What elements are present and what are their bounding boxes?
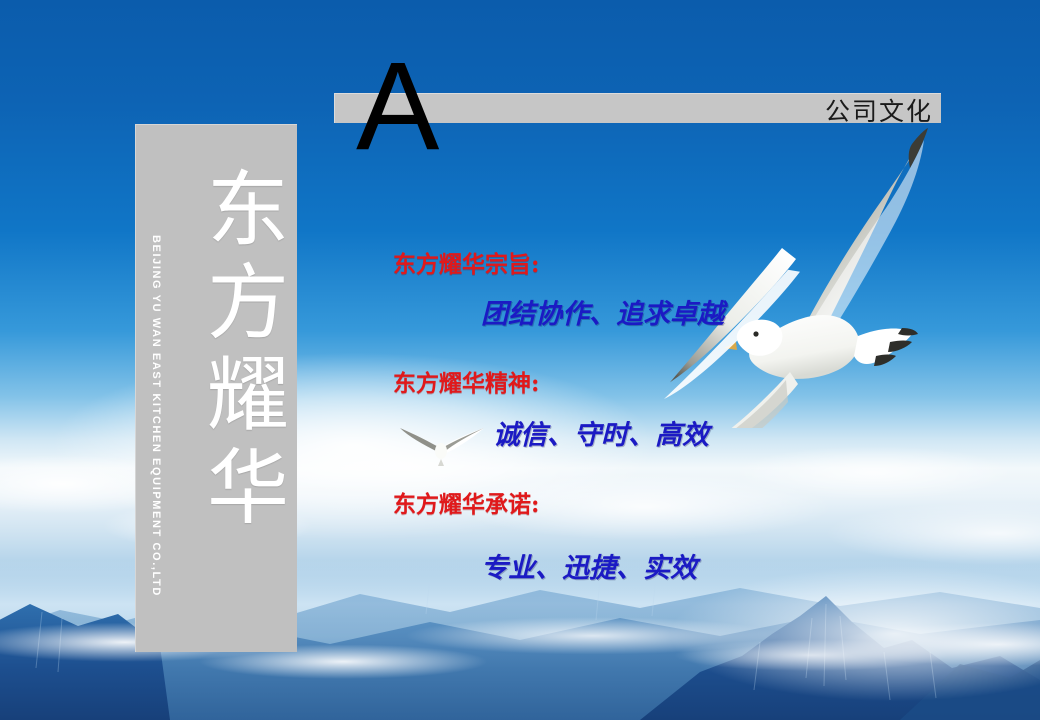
culture-body-promise: 专业、迅捷、实效 (481, 546, 697, 585)
slide-canvas: 公司文化 A BEIJING YU WAN EAST KITCHEN EQUIP… (0, 0, 1040, 720)
culture-body-purpose: 团结协作、追求卓越 (481, 292, 724, 331)
culture-heading-purpose: 东方耀华宗旨: (393, 245, 540, 279)
culture-text-group: 东方耀华宗旨: 团结协作、追求卓越 东方耀华精神: 诚信、守时、高效 东方耀华承… (0, 0, 1040, 720)
culture-heading-spirit: 东方耀华精神: (393, 364, 540, 398)
culture-heading-promise: 东方耀华承诺: (393, 485, 540, 519)
culture-body-spirit: 诚信、守时、高效 (493, 413, 709, 452)
